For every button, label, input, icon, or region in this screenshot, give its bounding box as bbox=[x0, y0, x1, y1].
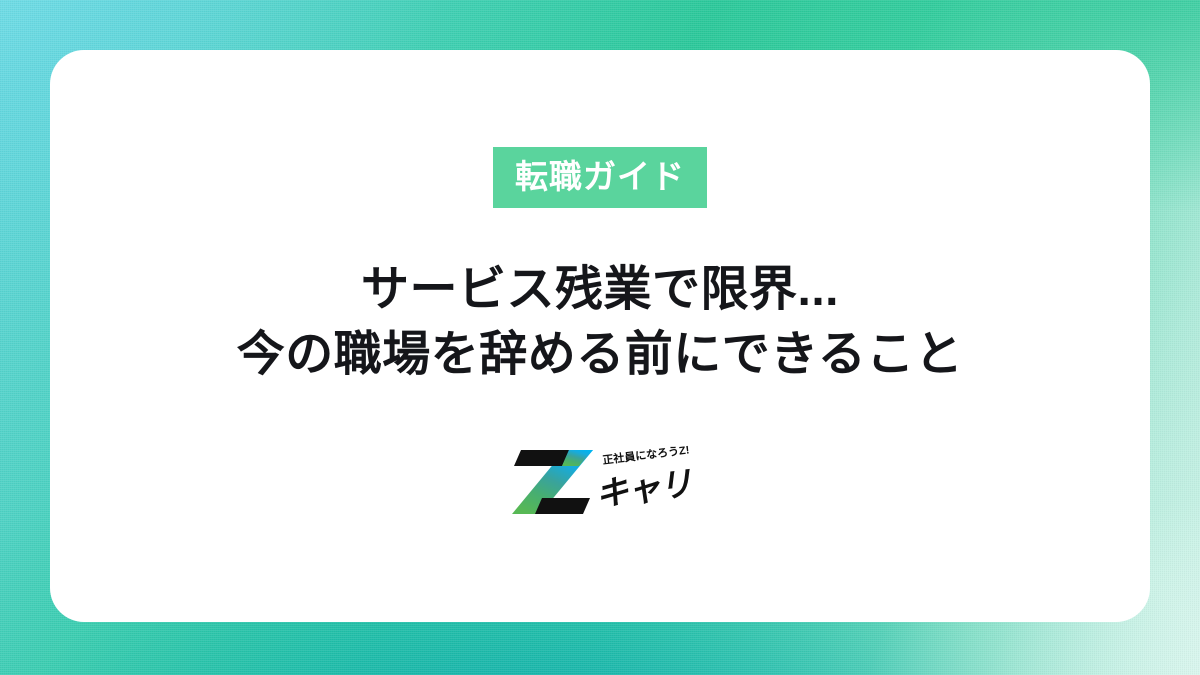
share-card-canvas: 転職ガイド サービス残業で限界... 今の職場を辞める前にできること bbox=[0, 0, 1200, 675]
page-title-line-1: サービス残業で限界... bbox=[110, 257, 1090, 322]
z-mark-icon bbox=[512, 450, 593, 514]
page-title-line-2: 今の職場を辞める前にできること bbox=[110, 322, 1090, 387]
page-title: サービス残業で限界... 今の職場を辞める前にできること bbox=[110, 257, 1090, 388]
content-card: 転職ガイド サービス残業で限界... 今の職場を辞める前にできること bbox=[50, 50, 1150, 622]
logo-wordmark: キャリア bbox=[593, 459, 693, 512]
logo-brand-name: Zキャリア bbox=[507, 520, 508, 521]
z-career-logo-graphic: 正社員になろうZ! キャリア bbox=[507, 442, 693, 520]
logo-tagline: 正社員になろうZ! bbox=[602, 442, 690, 467]
z-career-logo: 正社員になろうZ! キャリア Zキャリア bbox=[507, 442, 693, 520]
category-badge: 転職ガイド bbox=[493, 147, 707, 208]
